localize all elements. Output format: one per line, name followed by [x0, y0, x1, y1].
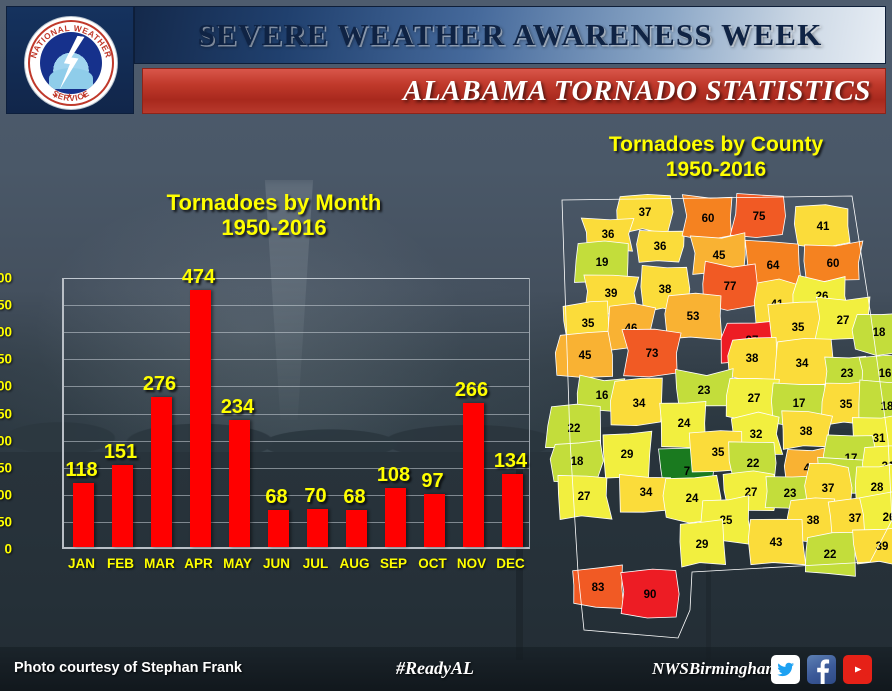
map-title-line1: Tornadoes by County [609, 133, 823, 156]
bar [73, 483, 94, 547]
bar [229, 420, 250, 547]
county-value-label: 73 [646, 348, 659, 360]
county-value-label: 36 [602, 229, 615, 241]
county-value-label: 32 [750, 429, 763, 441]
county-value-label: 35 [582, 318, 595, 330]
bar [424, 494, 445, 547]
twitter-icon[interactable] [771, 655, 800, 684]
y-tick-label: 450 [0, 298, 12, 313]
bar [112, 465, 133, 547]
map-title: Tornadoes by County 1950-2016 [540, 132, 892, 182]
x-tick-label: AUG [340, 556, 370, 571]
county-value-label: 28 [871, 482, 884, 494]
header-banner: NATIONAL WEATHER SERVICE ★ ★ ★ SEVERE WE… [6, 6, 886, 114]
county-value-label: 64 [767, 260, 780, 272]
chart-title-line1: Tornadoes by Month [167, 190, 382, 215]
county-value-label: 22 [747, 458, 760, 470]
bar-value-label: 134 [494, 450, 527, 473]
county-value-label: 27 [748, 393, 761, 405]
county-value-label: 7 [684, 466, 690, 478]
county-value-label: 35 [840, 399, 853, 411]
county-value-label: 29 [621, 449, 634, 461]
county-value-label: 38 [800, 426, 813, 438]
x-tick-label: APR [184, 556, 213, 571]
chart-title: Tornadoes by Month 1950-2016 [0, 190, 548, 240]
bar-value-label: 118 [65, 459, 97, 482]
county-value-label: 38 [807, 515, 820, 527]
county-value-label: 77 [724, 281, 737, 293]
x-tick-label: MAR [144, 556, 175, 571]
county-value-label: 60 [827, 258, 840, 270]
bar-value-label: 234 [221, 396, 254, 419]
county-value-label: 34 [640, 487, 653, 499]
nws-seal-icon: NATIONAL WEATHER SERVICE ★ ★ ★ [25, 17, 117, 109]
seal-stars: ★ ★ ★ [25, 92, 117, 100]
x-tick-label: SEP [380, 556, 407, 571]
county-value-label: 23 [698, 385, 711, 397]
page-title: SEVERE WEATHER AWARENESS WEEK [198, 17, 823, 53]
bar-value-label: 97 [421, 470, 443, 493]
y-tick-label: 350 [0, 352, 12, 367]
county-value-label: 27 [837, 315, 850, 327]
facebook-icon[interactable] [807, 655, 836, 684]
county-value-label: 35 [792, 322, 805, 334]
county-value-label: 36 [654, 241, 667, 253]
logo-panel: NATIONAL WEATHER SERVICE ★ ★ ★ [6, 6, 134, 114]
county-value-label: 37 [849, 513, 862, 525]
bar [190, 290, 211, 547]
y-tick-label: 500 [0, 271, 12, 286]
grid-line [64, 278, 529, 279]
county-value-label: 23 [841, 368, 854, 380]
photo-credit: Photo courtesy of Stephan Frank [14, 660, 242, 676]
y-tick-label: 150 [0, 460, 12, 475]
bar [307, 509, 328, 547]
y-tick-label: 0 [0, 542, 12, 557]
county-value-label: 18 [571, 456, 584, 468]
x-tick-label: JUL [303, 556, 329, 571]
county-value-label: 34 [796, 358, 809, 370]
y-tick-label: 250 [0, 406, 12, 421]
grid-line [64, 495, 529, 496]
x-tick-label: OCT [418, 556, 447, 571]
y-tick-label: 400 [0, 325, 12, 340]
county-value-label: 75 [753, 211, 766, 223]
bar [502, 474, 523, 547]
bar-value-label: 474 [182, 266, 215, 289]
x-tick-label: NOV [457, 556, 486, 571]
county-value-label: 53 [687, 311, 700, 323]
tornadoes-by-county-map: Tornadoes by County 1950-2016 3736361960… [540, 132, 892, 652]
page-subtitle: ALABAMA TORNADO STATISTICS [403, 75, 885, 108]
county-value-label: 35 [712, 447, 725, 459]
seal-text-top: NATIONAL WEATHER [28, 23, 114, 59]
bar-value-label: 108 [377, 464, 410, 487]
county-value-label: 29 [696, 539, 709, 551]
bar-value-label: 68 [343, 486, 365, 509]
county-value-label: 38 [746, 353, 759, 365]
bar [463, 403, 484, 547]
youtube-icon[interactable] [843, 655, 872, 684]
bar [268, 510, 289, 547]
grid-line [64, 414, 529, 415]
county-value-label: 45 [713, 250, 726, 262]
county-value-label: 18 [881, 401, 892, 413]
county-value-label: 60 [702, 213, 715, 225]
map-title-line2: 1950-2016 [666, 158, 766, 181]
county-value-label: 16 [596, 390, 609, 402]
campaign-hashtag: #ReadyAL [396, 658, 474, 679]
x-tick-label: JAN [68, 556, 95, 571]
tornadoes-by-month-chart: Tornadoes by Month 1950-2016 05010015020… [0, 120, 548, 590]
county-value-label: 19 [596, 257, 609, 269]
alabama-county-choropleth: 3736361960754145646039387741263546539735… [540, 190, 892, 642]
grid-line [64, 332, 529, 333]
bar [151, 397, 172, 547]
county-value-label: 83 [592, 582, 605, 594]
chart-title-line2: 1950-2016 [0, 215, 548, 240]
footer-bar: Photo courtesy of Stephan Frank #ReadyAL… [0, 647, 892, 691]
infographic-page: NATIONAL WEATHER SERVICE ★ ★ ★ SEVERE WE… [0, 0, 892, 691]
header-subtitle-bar: ALABAMA TORNADO STATISTICS [142, 68, 886, 114]
county-value-label: 31 [873, 433, 886, 445]
bar-value-label: 68 [265, 486, 287, 509]
county-value-label: 22 [824, 549, 837, 561]
county-value-label: 38 [659, 284, 672, 296]
grid-line [64, 359, 529, 360]
county-value-label: 24 [678, 418, 691, 430]
bar-value-label: 266 [455, 379, 488, 402]
bar [346, 510, 367, 547]
y-tick-label: 300 [0, 379, 12, 394]
x-tick-label: DEC [496, 556, 525, 571]
bar-value-label: 276 [143, 373, 176, 396]
county-value-label: 27 [578, 491, 591, 503]
county-value-label: 39 [605, 288, 618, 300]
county-value-label: 45 [579, 350, 592, 362]
county-value-label: 37 [639, 207, 652, 219]
county-value-label: 17 [793, 398, 806, 410]
grid-line [64, 305, 529, 306]
county-value-label: 16 [879, 368, 892, 380]
chart-plot-area [62, 278, 530, 549]
x-tick-label: MAY [223, 556, 252, 571]
y-tick-label: 50 [0, 514, 12, 529]
bar [385, 488, 406, 547]
county-value-label: 23 [784, 488, 797, 500]
social-handle: NWSBirmingham [652, 659, 779, 679]
grid-line [64, 468, 529, 469]
x-tick-label: FEB [107, 556, 134, 571]
county-value-label: 90 [644, 589, 657, 601]
county-value-label: 18 [873, 327, 886, 339]
county-value-label: 24 [686, 493, 699, 505]
bar-value-label: 151 [104, 441, 137, 464]
y-tick-label: 200 [0, 433, 12, 448]
county-value-label: 43 [770, 537, 783, 549]
county-value-label: 34 [633, 398, 646, 410]
y-tick-label: 100 [0, 487, 12, 502]
x-tick-label: JUN [263, 556, 290, 571]
county-value-label: 37 [822, 483, 835, 495]
grid-line [64, 522, 529, 523]
header-title-bar: SEVERE WEATHER AWARENESS WEEK [134, 6, 886, 64]
county-value-label: 41 [817, 221, 830, 233]
bar-value-label: 70 [304, 485, 326, 508]
